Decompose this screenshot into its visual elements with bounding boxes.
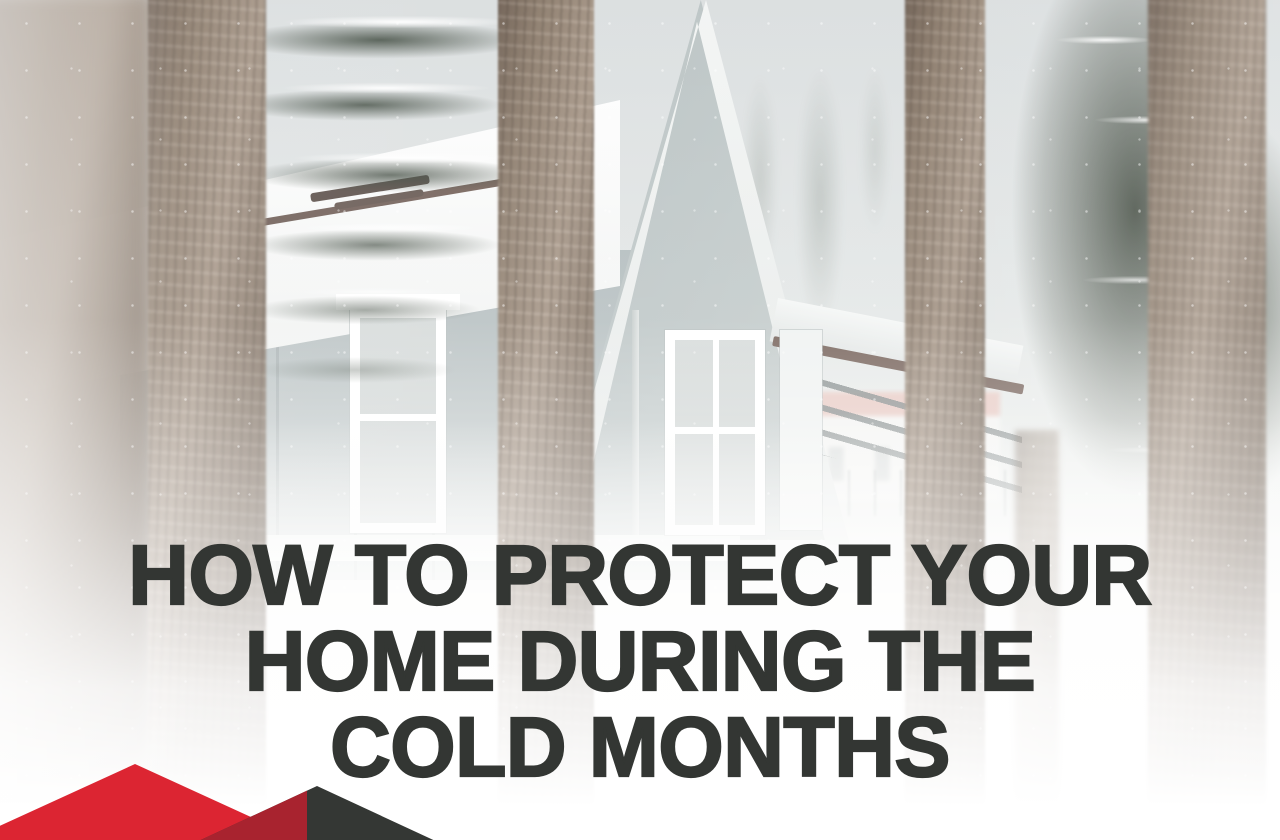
roof-chevron-logo[interactable] (0, 750, 430, 840)
title-line-1: HOW TO PROTECT YOUR (0, 532, 1280, 618)
title-line-2: HOME DURING THE (0, 618, 1280, 704)
banner-canvas: HOW TO PROTECT YOUR HOME DURING THE COLD… (0, 0, 1280, 840)
